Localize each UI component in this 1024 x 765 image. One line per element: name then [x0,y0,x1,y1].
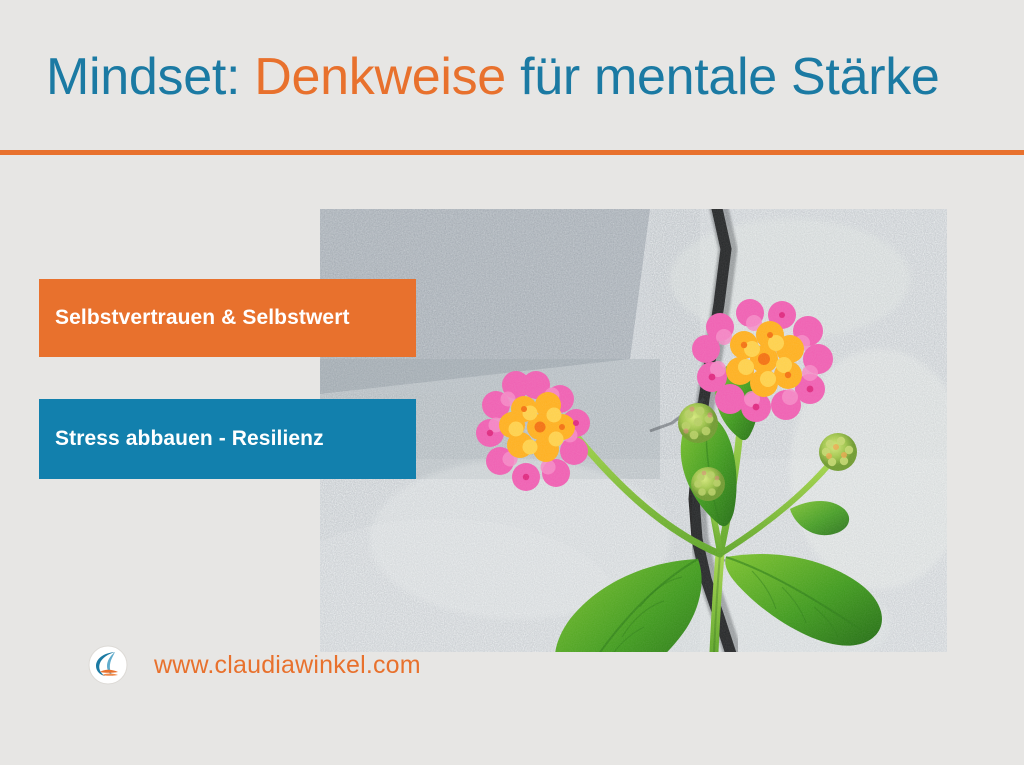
title-part-1: Mindset: [46,48,254,106]
title-part-3: für mentale Stärke [506,48,940,106]
website-url[interactable]: www.claudiawinkel.com [154,651,421,680]
callout-box-label: Stress abbauen - Resilienz [55,427,324,451]
callout-box-stress: Stress abbauen - Resilienz [39,399,416,479]
callout-box-selbstvertrauen: Selbstvertrauen & Selbstwert [39,279,416,357]
slide: Mindset: Denkweise für mentale Stärke [0,0,1024,765]
title-part-2: Denkweise [254,48,506,106]
page-title: Mindset: Denkweise für mentale Stärke [46,48,986,106]
claudia-winkel-logo-icon [88,645,128,685]
callout-box-label: Selbstvertrauen & Selbstwert [55,306,350,330]
footer: www.claudiawinkel.com [88,645,421,685]
title-divider [0,150,1024,155]
